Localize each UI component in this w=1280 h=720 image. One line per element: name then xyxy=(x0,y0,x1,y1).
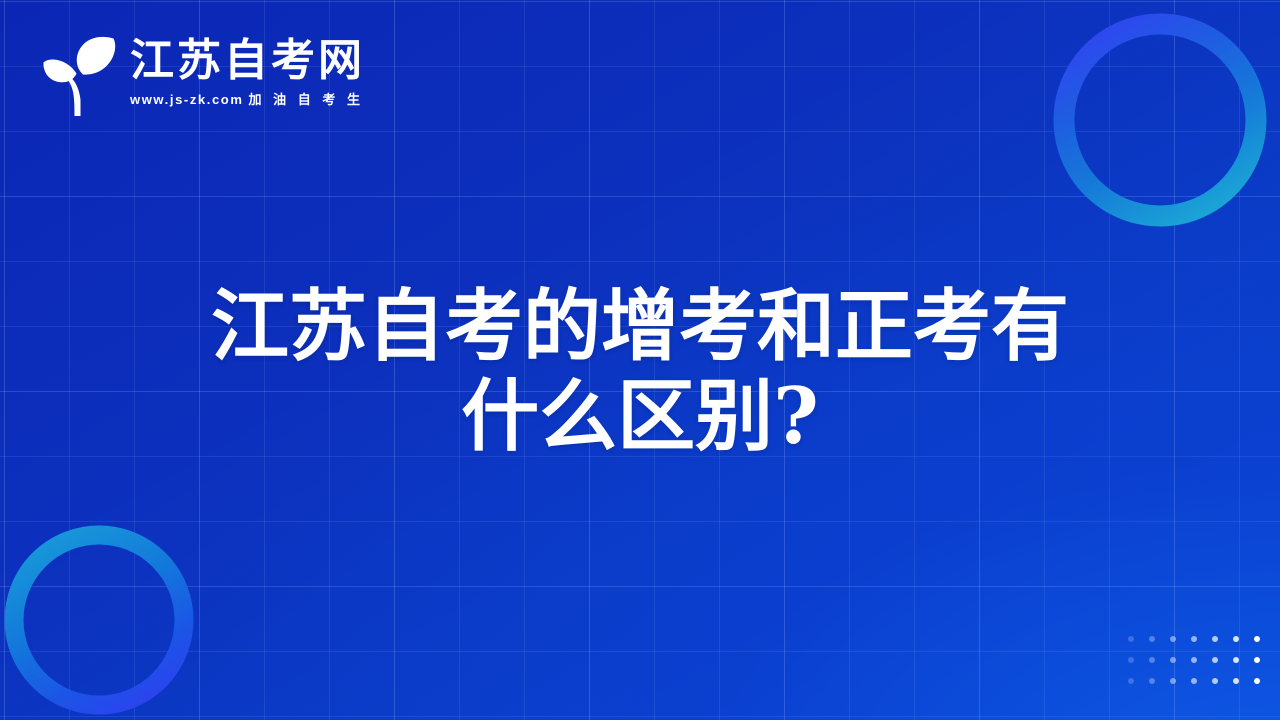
dot xyxy=(1191,636,1197,642)
dot xyxy=(1191,657,1197,663)
dot xyxy=(1149,657,1155,663)
dot xyxy=(1212,678,1218,684)
dot xyxy=(1233,636,1239,642)
dot xyxy=(1254,657,1260,663)
tagline-slogan: 加 油 自 考 生 xyxy=(249,92,364,107)
dot-grid xyxy=(1128,636,1275,699)
page-title-line-2: 什么区别? xyxy=(0,372,1280,462)
dot xyxy=(1212,636,1218,642)
logo-tagline: www.js-zk.com加 油 自 考 生 xyxy=(130,91,365,109)
logo-text: 江苏自考网 www.js-zk.com加 油 自 考 生 xyxy=(130,35,365,109)
dot xyxy=(1254,678,1260,684)
brand-name: 江苏自考网 xyxy=(130,35,365,87)
dot xyxy=(1233,657,1239,663)
ring-top-right xyxy=(1053,13,1267,227)
tagline-url: www.js-zk.com xyxy=(130,92,244,107)
ring-bottom-left xyxy=(4,525,194,715)
dot xyxy=(1170,678,1176,684)
sprout-icon xyxy=(34,26,120,118)
dot xyxy=(1170,657,1176,663)
site-logo[interactable]: 江苏自考网 www.js-zk.com加 油 自 考 生 xyxy=(34,26,365,118)
dot xyxy=(1128,636,1134,642)
slide-canvas: 江苏自考网 www.js-zk.com加 油 自 考 生 江苏自考的增考和正考有… xyxy=(0,0,1280,720)
dot xyxy=(1149,678,1155,684)
dot xyxy=(1254,636,1260,642)
dot xyxy=(1212,657,1218,663)
page-title-line-1: 江苏自考的增考和正考有 xyxy=(0,282,1280,372)
page-title: 江苏自考的增考和正考有 什么区别? xyxy=(0,282,1280,462)
dot xyxy=(1149,636,1155,642)
dot xyxy=(1170,636,1176,642)
dot xyxy=(1191,678,1197,684)
dot xyxy=(1128,657,1134,663)
dot xyxy=(1233,678,1239,684)
dot xyxy=(1128,678,1134,684)
